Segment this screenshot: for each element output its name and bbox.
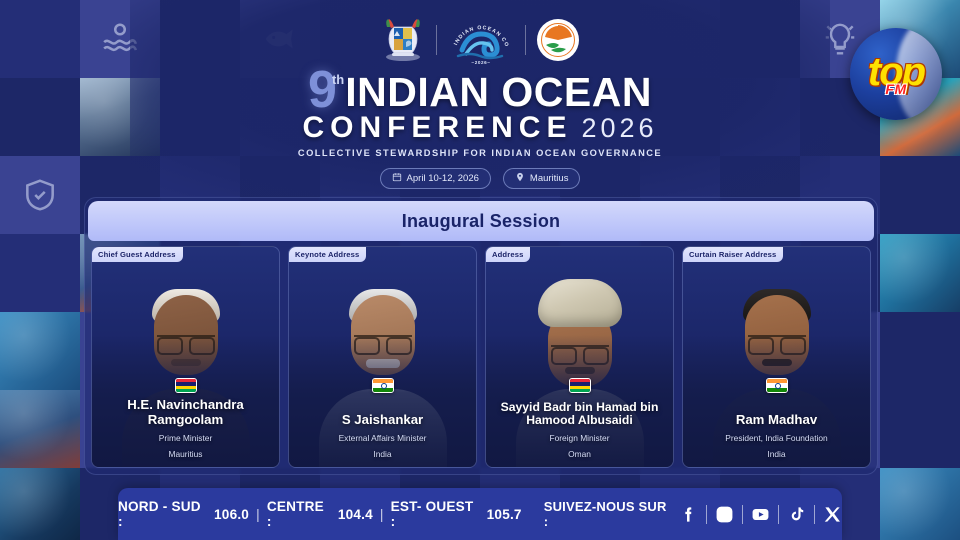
edition-suffix: th <box>332 72 344 87</box>
location-pill-label: Mauritius <box>530 173 569 184</box>
calendar-icon <box>392 172 402 185</box>
footer-bar: NORD - SUD : 106.0 | CENTRE : 104.4 | ES… <box>118 488 842 540</box>
follow-us-group: SUIVEZ-NOUS SUR : <box>544 499 842 529</box>
speaker-name: Ram Madhav <box>688 413 865 428</box>
date-pill-label: April 10-12, 2026 <box>407 173 479 184</box>
flag-india-icon <box>372 378 394 393</box>
conference-header: INDIAN OCEAN CONFERENCE ~2026~ <box>0 0 960 196</box>
social-divider <box>814 505 815 524</box>
inaugural-session-panel: Inaugural Session Chief Guest Address H.… <box>84 197 878 475</box>
speaker-name: H.E. Navinchandra Ramgoolam <box>97 398 274 428</box>
bg-tile-photo-crowd <box>0 390 80 468</box>
bg-tile <box>880 312 960 390</box>
speaker-card[interactable]: Curtain Raiser Address Ram Madhav Presid… <box>682 246 871 468</box>
speaker-country: India <box>688 449 865 459</box>
session-title: Inaugural Session <box>402 211 560 232</box>
edition-number: 9 <box>308 68 335 112</box>
conference-title-block: 9 th INDIAN OCEAN CONFERENCE 2026 COLLEC… <box>298 68 662 158</box>
title-main-row: 9 th INDIAN OCEAN <box>308 68 652 112</box>
meta-pill-row: April 10-12, 2026 Mauritius <box>380 168 581 189</box>
conference-tagline: COLLECTIVE STEWARDSHIP FOR INDIAN OCEAN … <box>298 148 662 158</box>
speaker-name: S Jaishankar <box>294 413 471 428</box>
speaker-country: India <box>294 449 471 459</box>
session-banner: Inaugural Session <box>88 201 874 241</box>
speaker-role: External Affairs Minister <box>294 433 471 443</box>
speaker-country: Mauritius <box>97 449 274 459</box>
title-second-row: CONFERENCE 2026 <box>302 113 657 143</box>
tiktok-icon[interactable] <box>787 505 806 524</box>
freq-est-value: 105.7 <box>487 507 522 522</box>
speaker-card[interactable]: Keynote Address S Jaishankar External Af… <box>288 246 477 468</box>
freq-nord-value: 106.0 <box>214 507 249 522</box>
flag-mauritius-icon <box>175 378 197 393</box>
speaker-badge: Keynote Address <box>289 247 366 262</box>
social-divider <box>778 505 779 524</box>
speaker-card[interactable]: Address Sayyid Badr bin Hamad bin Hamood… <box>485 246 674 468</box>
youtube-icon[interactable] <box>751 505 770 524</box>
facebook-icon[interactable] <box>679 505 698 524</box>
speaker-badge: Chief Guest Address <box>92 247 183 262</box>
speaker-role: President, India Foundation <box>688 433 865 443</box>
bg-tile-photo-coral <box>880 234 960 312</box>
flag-mauritius-icon <box>569 378 591 393</box>
bg-tile <box>0 234 80 312</box>
freq-centre-label: CENTRE : <box>267 499 331 529</box>
bg-tile <box>880 390 960 468</box>
indian-ocean-conference-wave-logo: INDIAN OCEAN CONFERENCE ~2026~ <box>448 14 514 66</box>
freq-est-label: EST- OUEST : <box>391 499 480 529</box>
top-fm-logo[interactable]: top FM <box>850 28 942 120</box>
title-line-1: INDIAN OCEAN <box>345 74 652 112</box>
speaker-card[interactable]: Chief Guest Address H.E. Navinchandra Ra… <box>91 246 280 468</box>
freq-separator: | <box>256 507 260 522</box>
speaker-badge: Address <box>486 247 530 262</box>
speaker-badge: Curtain Raiser Address <box>683 247 783 262</box>
freq-centre-value: 104.4 <box>338 507 373 522</box>
speaker-role: Foreign Minister <box>491 433 668 443</box>
logo-divider <box>436 25 437 55</box>
social-icon-list <box>679 505 842 524</box>
location-pill: Mauritius <box>503 168 581 189</box>
mauritius-coat-of-arms <box>381 17 425 63</box>
speaker-name: Sayyid Badr bin Hamad bin Hamood Albusai… <box>491 401 668 428</box>
bg-tile-photo-deep <box>0 468 80 540</box>
instagram-icon[interactable] <box>715 505 734 524</box>
logo-row: INDIAN OCEAN CONFERENCE ~2026~ <box>381 14 579 66</box>
social-divider <box>742 505 743 524</box>
social-divider <box>706 505 707 524</box>
freq-separator: | <box>380 507 384 522</box>
svg-text:~2026~: ~2026~ <box>471 60 490 65</box>
bg-tile-photo-blue <box>880 468 960 540</box>
speaker-role: Prime Minister <box>97 433 274 443</box>
follow-us-label: SUIVEZ-NOUS SUR : <box>544 499 670 529</box>
location-pin-icon <box>515 172 525 185</box>
flag-india-icon <box>766 378 788 393</box>
date-pill: April 10-12, 2026 <box>380 168 491 189</box>
title-year: 2026 <box>581 115 657 142</box>
logo-divider <box>525 25 526 55</box>
x-twitter-icon[interactable] <box>823 505 842 524</box>
title-line-2: CONFERENCE <box>302 113 572 143</box>
freq-nord-label: NORD - SUD : <box>118 499 207 529</box>
frequency-list: NORD - SUD : 106.0 | CENTRE : 104.4 | ES… <box>118 499 522 529</box>
speaker-country: Oman <box>491 449 668 459</box>
speaker-card-list: Chief Guest Address H.E. Navinchandra Ra… <box>85 241 877 468</box>
india-foundation-logo <box>537 19 579 61</box>
bg-tile <box>0 312 80 390</box>
